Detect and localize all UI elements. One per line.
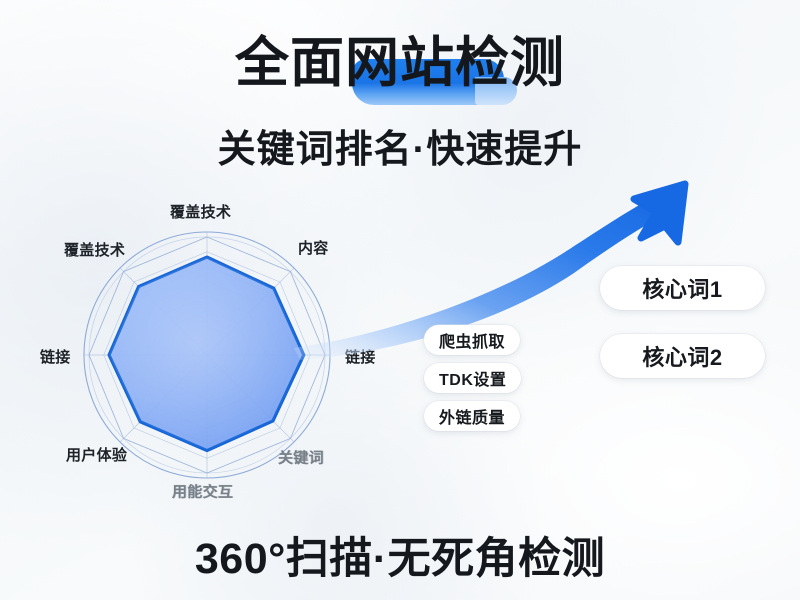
check-pill-crawl-label: 爬虫抓取 [439, 328, 505, 352]
radar-axis-label-bottom: 用能交互 [172, 481, 233, 501]
radar-axis-label-top-left: 覆盖技术 [64, 239, 125, 260]
keyword-pill-2-label: 核心词2 [642, 340, 722, 372]
headline-container: 全面网站检测 [0, 33, 800, 93]
check-pill-links-label: 外链质量 [439, 404, 505, 428]
radar-axis-label-bottom-right: 关键词 [278, 447, 324, 467]
poster-canvas: 全面网站检测 关键词排名·快速提升 [0, 0, 800, 600]
page-subtitle: 关键词排名·快速提升 [0, 118, 800, 173]
check-pill-tdk[interactable]: TDK设置 [424, 363, 521, 393]
page-title-text: 全面网站检测 [235, 33, 565, 93]
keyword-pill-1[interactable]: 核心词1 [600, 266, 765, 310]
keyword-pill-1-label: 核心词1 [642, 272, 722, 304]
page-title: 全面网站检测 [235, 33, 565, 93]
radar-axis-label-bottom-left: 用户体验 [66, 444, 127, 465]
radar-axis-label-top: 覆盖技术 [170, 201, 231, 222]
radar-spoke-tick-3 [290, 438, 294, 442]
radar-axis-label-left: 链接 [40, 346, 71, 367]
radar-spoke-tick-5 [120, 438, 124, 442]
radar-series [109, 257, 304, 451]
footer-tagline: 360°扫描·无死角检测 [0, 524, 800, 586]
check-pill-tdk-label: TDK设置 [439, 366, 506, 390]
check-pill-crawl[interactable]: 爬虫抓取 [424, 325, 520, 355]
check-pill-links[interactable]: 外链质量 [424, 401, 520, 431]
radar-spoke-tick-7 [120, 268, 124, 272]
keyword-pill-2[interactable]: 核心词2 [600, 334, 765, 378]
